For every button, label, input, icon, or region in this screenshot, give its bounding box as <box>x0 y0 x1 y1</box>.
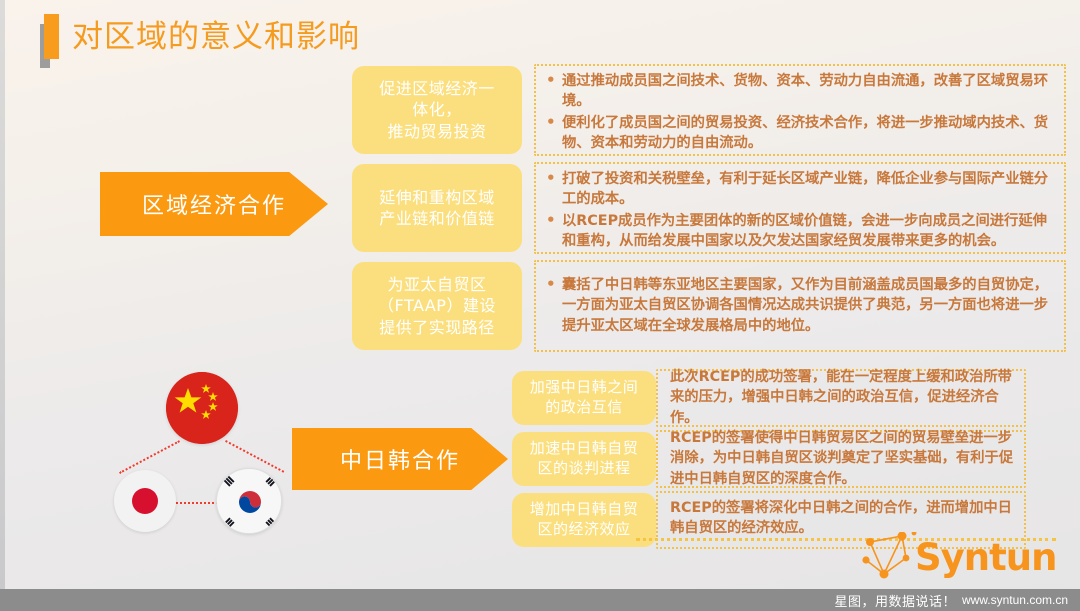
arrow-label: 区域经济合作 <box>142 188 286 220</box>
bullet-list: 此次RCEP的成功签署，能在一定程度上缓和政治所带来的压力，增强中日韩之间的政治… <box>664 367 1014 429</box>
bullet-item: RCEP的签署使得中日韩贸易区之间的贸易壁垒进一步消除，为中日韩自贸区谈判奠定了… <box>664 428 1014 489</box>
footer-slogan: 星图，用数据说话！ <box>834 591 956 610</box>
bullet-list: 通过推动成员国之间技术、货物、资本、劳动力自由流通，改善了区域贸易环境。 便利化… <box>542 71 1054 153</box>
flag-link-cn-jp <box>119 440 180 474</box>
content-box-promote-integration: 通过推动成员国之间技术、货物、资本、劳动力自由流通，改善了区域贸易环境。 便利化… <box>534 64 1066 156</box>
bullet-list: RCEP的签署将深化中日韩之间的合作，进而增加中日韩自贸区的经济效应。 <box>664 498 1014 540</box>
content-box-ftaap-path: 囊括了中日韩等东亚地区主要国家，又作为目前涵盖成员国最多的自贸协定，一方面为亚太… <box>534 260 1066 352</box>
pill-promote-integration[interactable]: 促进区域经济一 体化， 推动贸易投资 <box>352 66 522 154</box>
arrow-region-economic-cooperation[interactable]: 区域经济合作 <box>100 172 328 236</box>
flags-diagram <box>104 372 316 550</box>
bullet-list: 打破了投资和关税壁垒，有利于延长区域产业链，降低企业参与国际产业链分工的成本。 … <box>542 169 1054 251</box>
page-title-text: 对区域的意义和影响 <box>72 14 360 60</box>
footer-bar: 星图，用数据说话！ www.syntun.com.cn <box>0 589 1080 611</box>
bullet-item: 便利化了成员国之间的贸易投资、经济技术合作，将进一步推动域内技术、货物、资本和劳… <box>542 113 1054 154</box>
pill-label: 加强中日韩之间 的政治互信 <box>530 378 639 418</box>
pill-economic-effect[interactable]: 增加中日韩自贸 区的经济效应 <box>512 493 656 547</box>
korea-flag-icon <box>216 468 282 534</box>
pill-label: 加速中日韩自贸 区的谈判进程 <box>530 439 639 479</box>
content-box-fta-negotiation: RCEP的签署使得中日韩贸易区之间的贸易壁垒进一步消除，为中日韩自贸区谈判奠定了… <box>656 430 1026 488</box>
arrow-label: 中日韩合作 <box>340 443 460 475</box>
bullet-item: 囊括了中日韩等东亚地区主要国家，又作为目前涵盖成员国最多的自贸协定，一方面为亚太… <box>542 275 1054 336</box>
title-accent-orange-bar <box>44 14 59 59</box>
bullet-item: RCEP的签署将深化中日韩之间的合作，进而增加中日韩自贸区的经济效应。 <box>664 498 1014 539</box>
pill-fta-negotiation[interactable]: 加速中日韩自贸 区的谈判进程 <box>512 432 656 486</box>
pill-label: 延伸和重构区域 产业链和价值链 <box>379 187 495 229</box>
pill-label: 为亚太自贸区 （FTAAP）建设 提供了实现路径 <box>378 274 496 337</box>
bullet-item: 通过推动成员国之间技术、货物、资本、劳动力自由流通，改善了区域贸易环境。 <box>542 71 1054 112</box>
arrow-china-japan-korea-cooperation[interactable]: 中日韩合作 <box>292 428 508 490</box>
pill-ftaap-path[interactable]: 为亚太自贸区 （FTAAP）建设 提供了实现路径 <box>352 262 522 350</box>
china-flag-icon <box>166 372 238 444</box>
pill-label: 增加中日韩自贸 区的经济效应 <box>530 500 639 540</box>
bullet-list: 囊括了中日韩等东亚地区主要国家，又作为目前涵盖成员国最多的自贸协定，一方面为亚太… <box>542 275 1054 337</box>
bullet-list: RCEP的签署使得中日韩贸易区之间的贸易壁垒进一步消除，为中日韩自贸区谈判奠定了… <box>664 428 1014 490</box>
content-box-political-trust: 此次RCEP的成功签署，能在一定程度上缓和政治所带来的压力，增强中日韩之间的政治… <box>656 369 1026 427</box>
footer-url[interactable]: www.syntun.com.cn <box>962 593 1068 607</box>
syntun-wordmark: Syntun <box>915 536 1056 579</box>
pill-label: 促进区域经济一 体化， 推动贸易投资 <box>379 78 495 141</box>
syntun-logo-mark-icon <box>862 532 918 580</box>
slide-canvas: 对区域的意义和影响 区域经济合作 促进区域经济一 体化， 推动贸易投资 通过推动… <box>0 0 1080 611</box>
japan-flag-sun <box>132 488 158 514</box>
bullet-item: 打破了投资和关税壁垒，有利于延长区域产业链，降低企业参与国际产业链分工的成本。 <box>542 169 1054 210</box>
pill-political-trust[interactable]: 加强中日韩之间 的政治互信 <box>512 371 656 425</box>
pill-extend-industrial-chain[interactable]: 延伸和重构区域 产业链和价值链 <box>352 164 522 252</box>
japan-flag-icon <box>114 470 176 532</box>
content-box-extend-industrial-chain: 打破了投资和关税壁垒，有利于延长区域产业链，降低企业参与国际产业链分工的成本。 … <box>534 162 1066 254</box>
bullet-item: 以RCEP成员作为主要团体的新的区域价值链，会进一步向成员之间进行延伸和重构，从… <box>542 211 1054 252</box>
bullet-item: 此次RCEP的成功签署，能在一定程度上缓和政治所带来的压力，增强中日韩之间的政治… <box>664 367 1014 428</box>
